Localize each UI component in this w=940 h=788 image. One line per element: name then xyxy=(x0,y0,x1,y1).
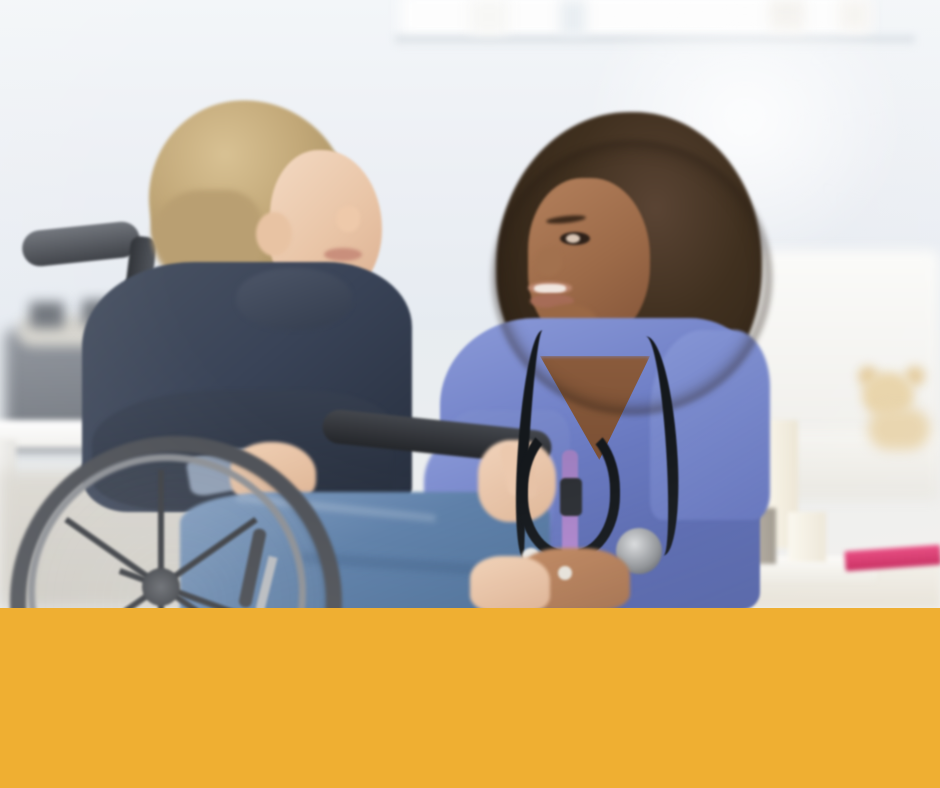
teddy-bear-body xyxy=(868,408,930,450)
promo-card: Cerebral Palsy and Swallowing Difficulti… xyxy=(0,0,940,788)
stethoscope-clip xyxy=(560,478,582,516)
boy-ear xyxy=(256,212,292,256)
boy-sweater-collar xyxy=(236,268,352,330)
hero-photo xyxy=(0,0,940,608)
nurse-ring xyxy=(558,566,572,580)
shelf-object-icon xyxy=(470,0,508,34)
background-chair-arm xyxy=(30,302,64,328)
title-banner: Cerebral Palsy and Swallowing Difficulti… xyxy=(0,608,940,788)
boy-mouth xyxy=(324,248,362,261)
wooden-block-square xyxy=(788,512,826,562)
boy-hand-lower xyxy=(470,556,550,608)
boy-nose xyxy=(336,206,360,232)
wheelchair-hub xyxy=(142,568,180,606)
